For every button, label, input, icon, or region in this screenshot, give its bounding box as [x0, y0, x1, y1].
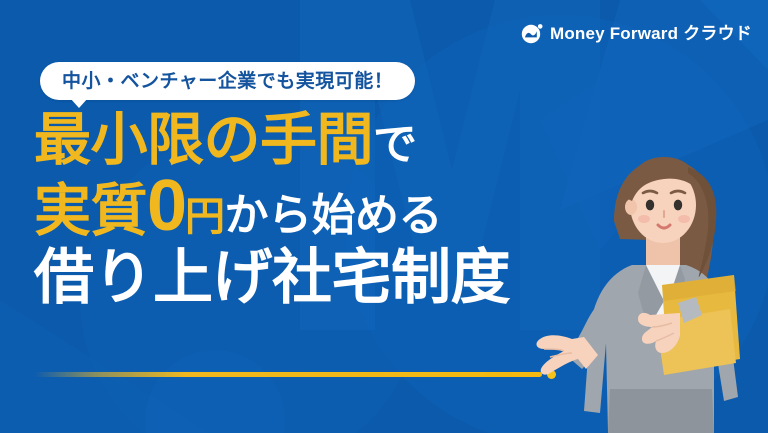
- headline-line2-number: 0: [147, 178, 185, 236]
- money-forward-mark-icon: [521, 22, 543, 44]
- headline-line3-white: 借り上げ社宅制度: [34, 248, 510, 308]
- eyebrow-badge: 中小・ベンチャー企業でも実現可能！: [40, 62, 415, 100]
- logo-brand-text: Money Forward: [550, 24, 678, 43]
- promotional-banner: Money Forwardクラウド 中小・ベンチャー企業でも実現可能！ 最小限の…: [0, 0, 768, 433]
- brand-logo: Money Forwardクラウド: [521, 20, 752, 46]
- headline-line-3: 借り上げ社宅制度: [34, 248, 594, 308]
- eyebrow-badge-label: 中小・ベンチャー企業でも実現可能！: [62, 72, 393, 91]
- headline-line2-unit: 円: [185, 197, 225, 237]
- headline-underline: [34, 370, 564, 378]
- headline-line2-lead: 実質: [34, 183, 147, 240]
- logo-product-text: クラウド: [683, 24, 752, 43]
- logo-wordmark: Money Forwardクラウド: [550, 25, 752, 42]
- headline-line2-tail: から始める: [225, 194, 443, 238]
- headline-line1-white: で: [373, 123, 417, 167]
- badge-tail-pointer: [70, 98, 88, 108]
- headline-line-2: 実質0円から始める: [34, 178, 594, 240]
- headline-line-1: 最小限の手間で: [34, 112, 594, 169]
- headline-line1-gold: 最小限の手間: [34, 112, 373, 169]
- underline-bar: [34, 372, 542, 377]
- businesswoman-illustration: [528, 143, 768, 433]
- headline-block: 最小限の手間で 実質0円から始める 借り上げ社宅制度: [34, 112, 594, 308]
